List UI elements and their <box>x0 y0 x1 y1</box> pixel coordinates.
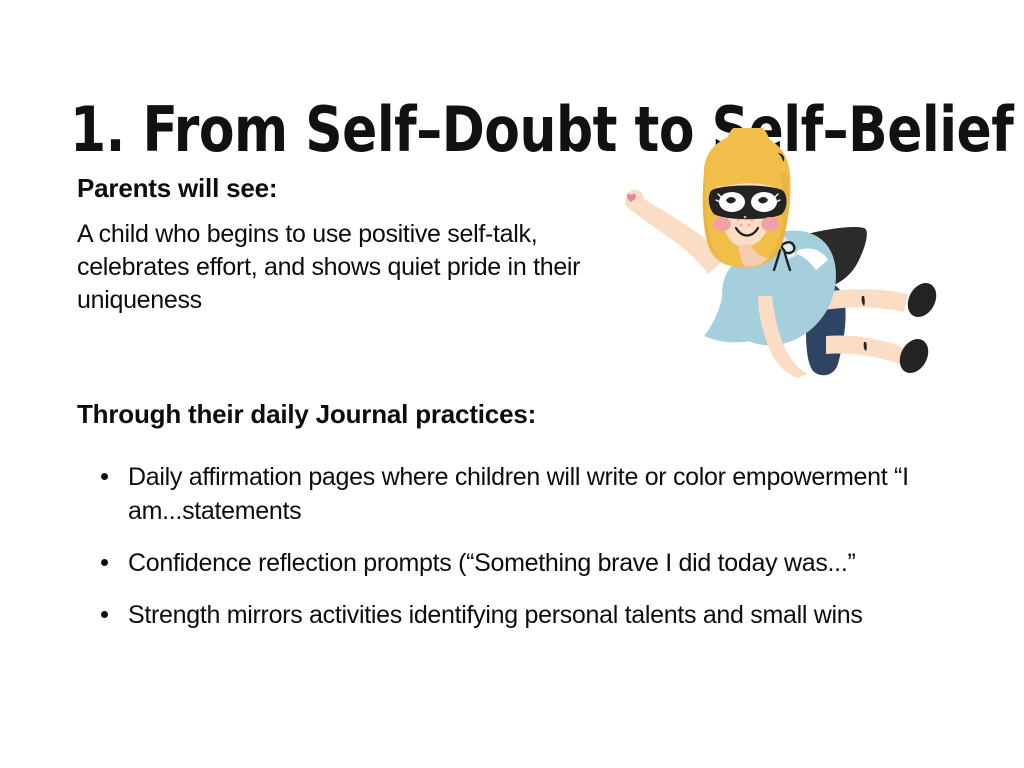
flying-superhero-girl-illustration: G <box>612 128 982 378</box>
list-item: Confidence reflection prompts (“Somethin… <box>95 546 935 580</box>
right-cheek-shape <box>761 217 779 231</box>
eye-mask-shape <box>709 186 787 220</box>
list-item-text: Strength mirrors activities identifying … <box>128 601 863 629</box>
list-item-text: Daily affirmation pages where children w… <box>128 463 909 525</box>
bullet-dot-icon <box>101 473 108 480</box>
shoe-shape <box>902 278 942 322</box>
list-item: Strength mirrors activities identifying … <box>95 598 935 632</box>
practices-bullet-list: Daily affirmation pages where children w… <box>95 460 935 632</box>
lead-heading: Parents will see: <box>77 172 637 204</box>
bullet-dot-icon <box>101 559 108 566</box>
slide-canvas: 1. From Self–Doubt to Self–Belief Parent… <box>0 0 1024 768</box>
list-item: Daily affirmation pages where children w… <box>95 460 935 528</box>
list-item-text: Confidence reflection prompts (“Somethin… <box>128 549 855 577</box>
back-leg-shape <box>826 334 934 378</box>
left-cheek-shape <box>713 217 731 231</box>
lead-block: Parents will see: A child who begins to … <box>77 172 637 317</box>
bullet-dot-icon <box>101 611 108 618</box>
head-group <box>703 128 791 268</box>
section-heading: Through their daily Journal practices: <box>77 398 536 430</box>
lead-body-text: A child who begins to use positive self-… <box>77 218 622 317</box>
